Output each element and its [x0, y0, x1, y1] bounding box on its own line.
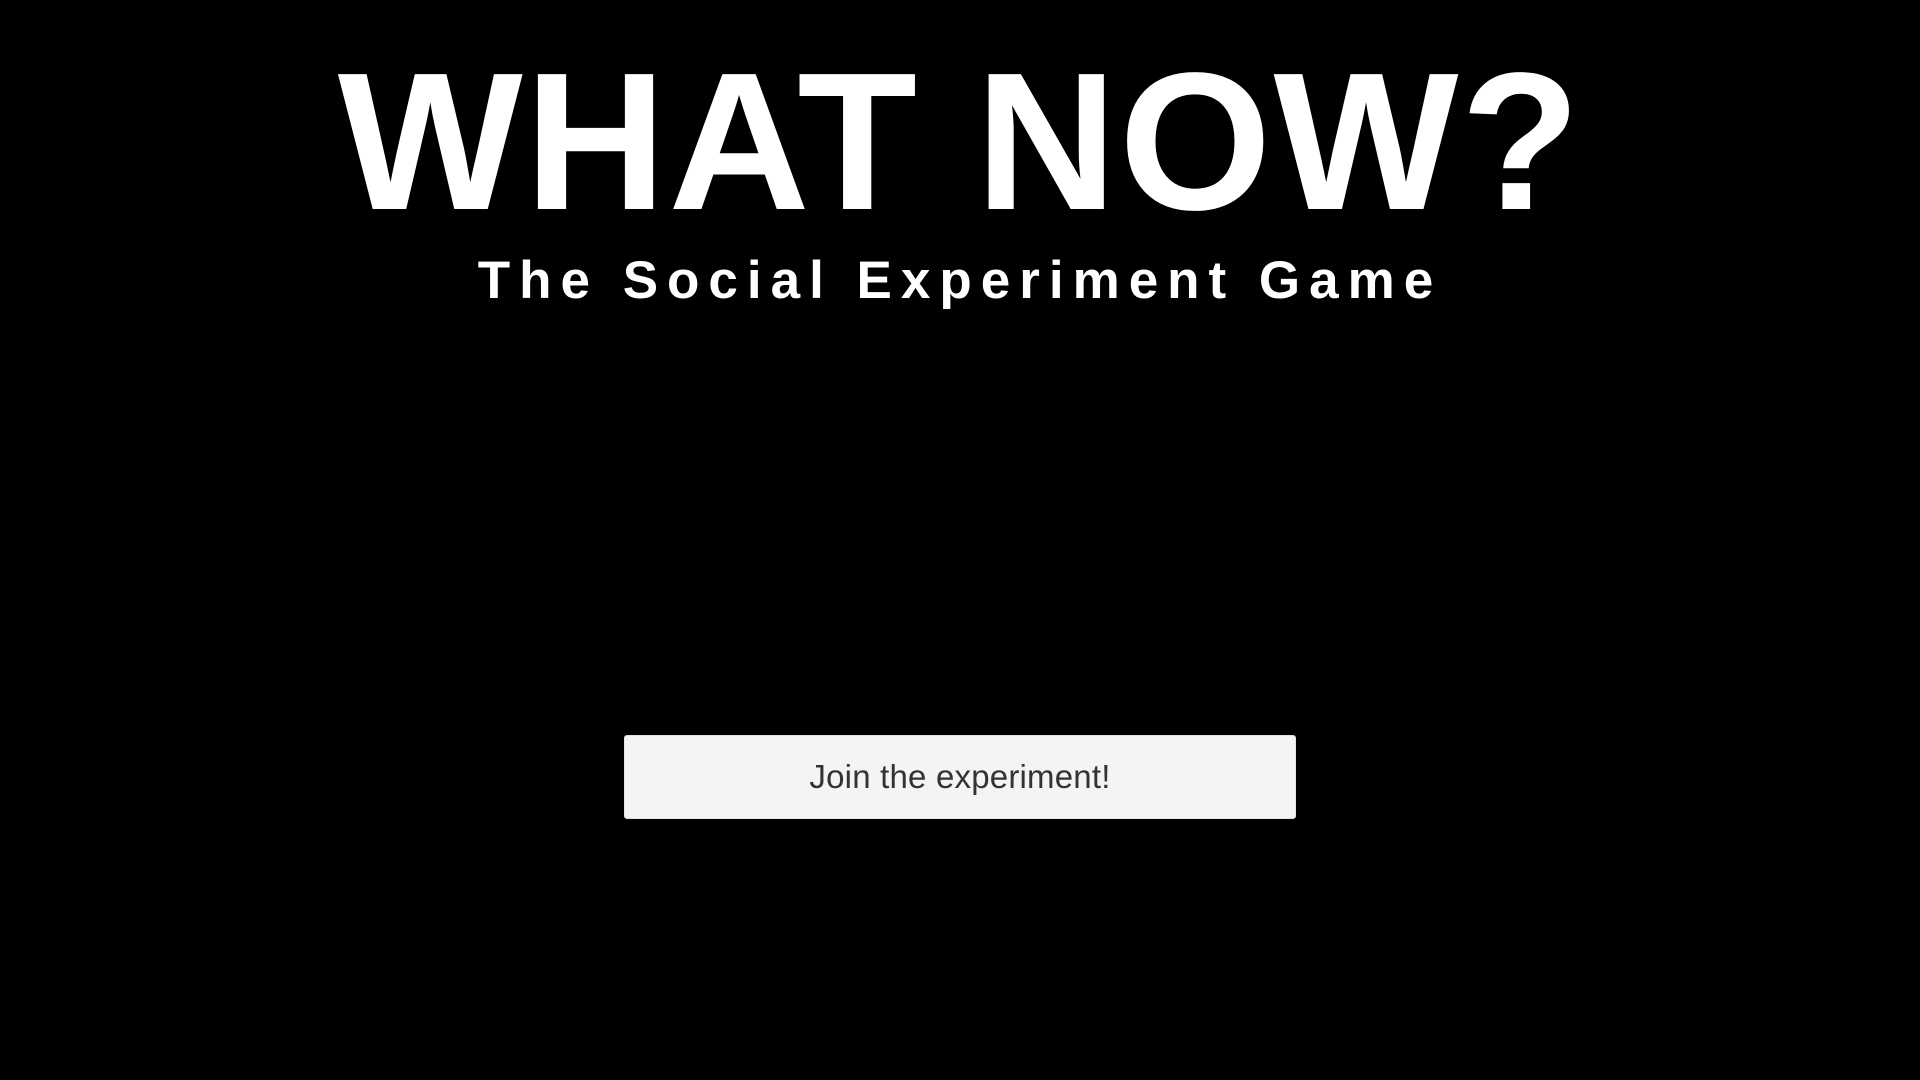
cta-section: Join the experiment!	[0, 735, 1920, 819]
page-title: WHAT NOW?	[0, 0, 1920, 240]
join-experiment-button[interactable]: Join the experiment!	[624, 735, 1296, 819]
game-landing-screen: WHAT NOW? The Social Experiment Game Joi…	[0, 0, 1920, 1080]
page-subtitle: The Social Experiment Game	[0, 240, 1920, 312]
hero-section: WHAT NOW? The Social Experiment Game	[0, 0, 1920, 312]
